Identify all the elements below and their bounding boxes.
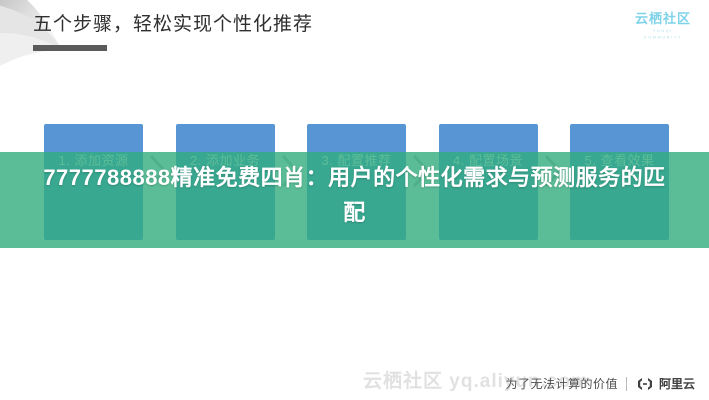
aliyun-brand-name: 阿里云 [659, 376, 695, 392]
yunqi-logo: 云栖社区 YUNQI COMMUNITY [631, 11, 695, 41]
slide-canvas: 五个步骤，轻松实现个性化推荐 云栖社区 YUNQI COMMUNITY 1. 添… [0, 0, 709, 400]
page-title: 五个步骤，轻松实现个性化推荐 [33, 12, 313, 38]
aliyun-cloud-icon [635, 377, 655, 391]
title-underline [33, 45, 107, 51]
yunqi-logo-subtext: YUNQI COMMUNITY [634, 28, 692, 41]
footer-slogan: 为了无法计算的价值 [505, 376, 618, 392]
footer-bar: 为了无法计算的价值 阿里云 [505, 376, 695, 392]
yunqi-logo-text: 云栖社区 [631, 11, 695, 27]
footer-divider [626, 377, 627, 391]
aliyun-brand: 阿里云 [635, 376, 695, 392]
overlay-headline: 7777788888精准免费四肖：用户的个性化需求与预测服务的匹配 [0, 160, 709, 230]
